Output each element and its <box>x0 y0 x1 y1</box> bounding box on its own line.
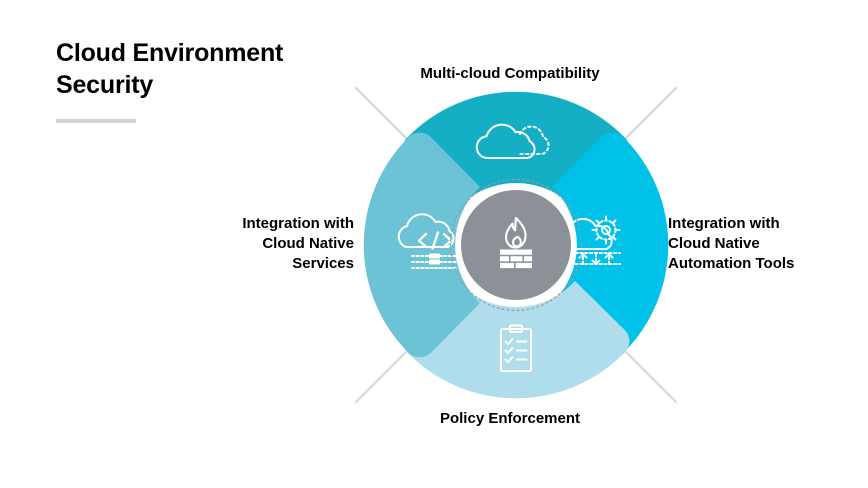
title-block: Cloud Environment Security <box>56 38 356 123</box>
center-circle[interactable] <box>461 190 571 300</box>
donut-diagram <box>338 62 694 428</box>
diagram-canvas: Cloud Environment Security Multi-cloud C… <box>0 0 868 488</box>
segment-label-integration-cloud-native-services: Integration with Cloud Native Services <box>28 214 354 274</box>
segment-label-integration-automation-tools: Integration with Cloud Native Automation… <box>668 214 868 274</box>
title-accent-bar <box>56 119 136 123</box>
page-title: Cloud Environment Security <box>56 38 356 102</box>
